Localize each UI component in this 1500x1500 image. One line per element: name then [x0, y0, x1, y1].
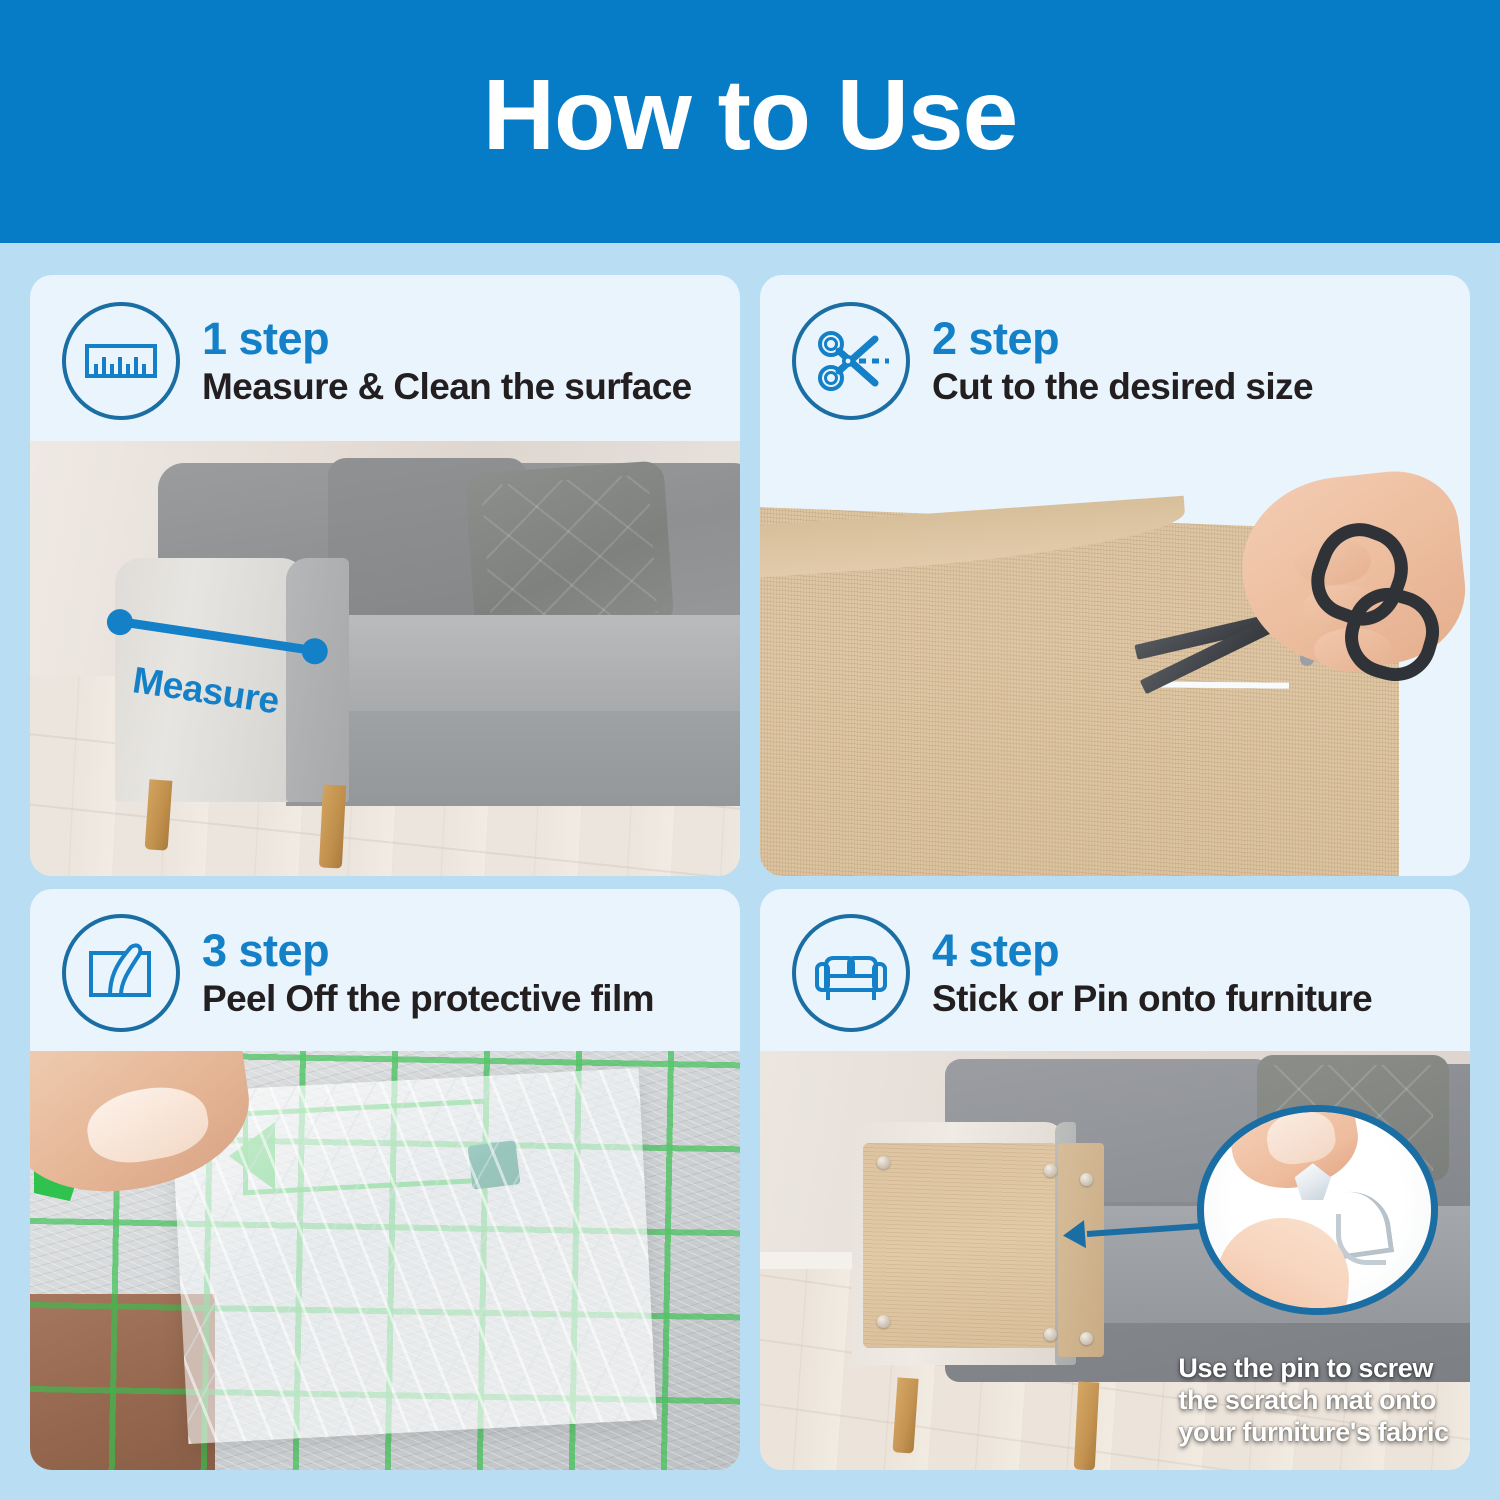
step-4-header: 4 step Stick or Pin onto furniture — [760, 889, 1470, 1051]
mat-pin — [1044, 1328, 1057, 1341]
step-2-number: 2 step — [932, 315, 1313, 362]
baseboard — [760, 1252, 859, 1269]
pin-closeup-inset — [1197, 1105, 1438, 1315]
step-1-text-block: 1 step Measure & Clean the surface — [180, 315, 692, 408]
sofa-arm-side — [286, 558, 350, 802]
page-header: How to Use — [0, 0, 1500, 243]
step-1-header: 1 step Measure & Clean the surface — [30, 275, 740, 441]
mat-pin — [1080, 1173, 1093, 1186]
sofa-icon — [792, 914, 910, 1032]
scratch-mat-panel — [863, 1143, 1058, 1348]
sofa-measure-photo: Measure — [30, 441, 740, 876]
step-4-text-block: 4 step Stick or Pin onto furniture — [910, 927, 1372, 1020]
mat-pin — [1080, 1332, 1093, 1345]
step-2-description: Cut to the desired size — [932, 366, 1313, 407]
step-card-2: 2 step Cut to the desired size — [760, 275, 1470, 876]
peeling-protective-film-photo — [30, 1051, 740, 1470]
quilted-pillow — [465, 460, 675, 639]
step-3-text-block: 3 step Peel Off the protective film — [180, 927, 654, 1020]
mat-pin — [877, 1156, 890, 1169]
step-3-number: 3 step — [202, 927, 654, 974]
step-2-text-block: 2 step Cut to the desired size — [910, 315, 1313, 408]
sofa-with-scratch-mat-photo: Use the pin to screw the scratch mat ont… — [760, 1051, 1470, 1470]
step-1-number: 1 step — [202, 315, 692, 362]
ruler-icon — [62, 302, 180, 420]
step-4-number: 4 step — [932, 927, 1372, 974]
scissors-icon — [792, 302, 910, 420]
step-card-1: 1 step Measure & Clean the surface Measu… — [30, 275, 740, 876]
scissors-cutting-mat-photo — [760, 441, 1470, 876]
step-card-4: 4 step Stick or Pin onto furniture — [760, 889, 1470, 1470]
step-4-description: Stick or Pin onto furniture — [932, 978, 1372, 1019]
how-to-use-page: How to Use — [0, 0, 1500, 1500]
step-3-description: Peel Off the protective film — [202, 978, 654, 1019]
step-1-description: Measure & Clean the surface — [202, 366, 692, 407]
step-card-3: 3 step Peel Off the protective film — [30, 889, 740, 1470]
steps-grid: 1 step Measure & Clean the surface Measu… — [30, 275, 1470, 1470]
sofa-leg-back — [319, 784, 346, 868]
step-3-header: 3 step Peel Off the protective film — [30, 889, 740, 1051]
sofa-seat-base — [286, 711, 740, 807]
page-title: How to Use — [483, 65, 1017, 179]
pin-instruction-caption: Use the pin to screw the scratch mat ont… — [1178, 1353, 1448, 1449]
peel-film-icon — [62, 914, 180, 1032]
step-2-header: 2 step Cut to the desired size — [760, 275, 1470, 441]
